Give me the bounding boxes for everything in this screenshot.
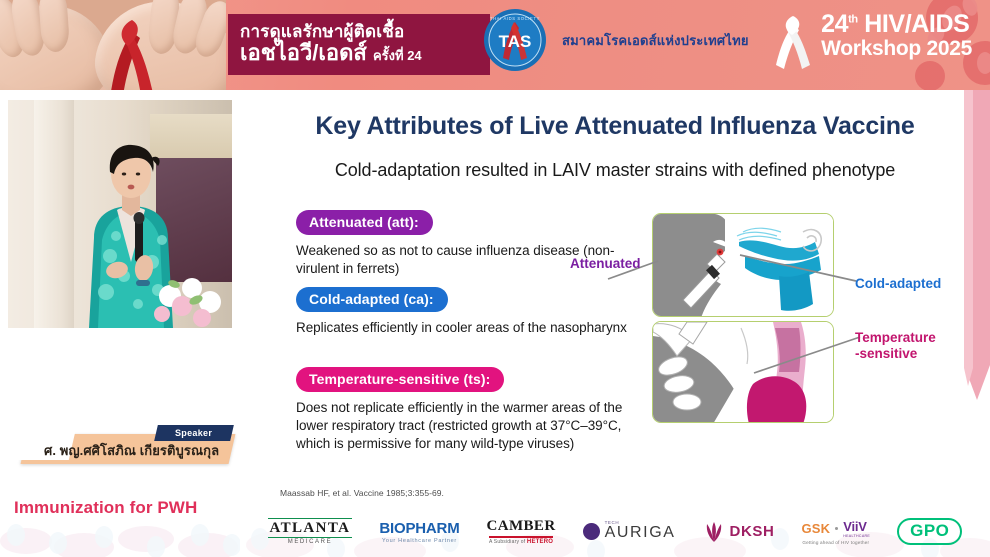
cell-texture-decoration xyxy=(0,507,240,557)
event-thai-title-edition: ครั้งที่ 24 xyxy=(373,48,422,63)
biopharm-wordmark: BIOPHARM xyxy=(379,520,459,537)
camber-rule xyxy=(489,536,553,537)
white-ribbon-icon xyxy=(771,15,815,69)
speaker-badge-label: Speaker xyxy=(175,428,212,438)
slide-title: Key Attributes of Live Attenuated Influe… xyxy=(240,112,990,141)
event-header-band: การดูแลรักษาผู้ติดเชื้อ เอชไอวี/เอดส์ คร… xyxy=(0,0,990,90)
atlanta-subtext: MEDICARE xyxy=(288,539,332,545)
speaker-video-thumbnail[interactable] xyxy=(8,100,232,328)
event-thai-title-line1: การดูแลรักษาผู้ติดเชื้อ xyxy=(240,22,480,41)
diagram-label-temperature-sensitive: Temperature -sensitive xyxy=(855,330,950,361)
slide-screenshot: การดูแลรักษาผู้ติดเชื้อ เอชไอวี/เอดส์ คร… xyxy=(0,0,990,557)
diagram-label-attenuated: Attenuated xyxy=(570,256,641,272)
auriga-wordmark: AURIGA xyxy=(605,525,676,542)
sponsor-logo-atlanta: ATLANTA MEDICARE xyxy=(268,518,353,546)
sponsor-logo-camber: CAMBER A Subsidiary of HETERO xyxy=(487,518,556,544)
speaker-name: ศ. พญ.ศศิโสภิณ เกียรติบูรณกุล xyxy=(44,440,234,461)
camber-parent-brand: HETERO xyxy=(527,539,553,545)
workshop-ordinal-suffix: th xyxy=(848,14,858,26)
workshop-title-line1: HIV/AIDS xyxy=(864,10,969,38)
diagram-label-cold-adapted: Cold-adapted xyxy=(855,276,941,292)
event-thai-title-block: การดูแลรักษาผู้ติดเชื้อ เอชไอวี/เอดส์ คร… xyxy=(228,14,490,75)
speaker-sidebar: Speaker ศ. พญ.ศศิโสภิณ เกียรติบูรณกุล Im… xyxy=(0,90,240,557)
svg-text:THAI AIDS SOCIETY: THAI AIDS SOCIETY xyxy=(490,16,540,21)
diagram-leader-lines xyxy=(462,203,882,433)
atlanta-wordmark: ATLANTA xyxy=(268,518,353,539)
gsk-wordmark: GSK xyxy=(801,521,830,536)
biopharm-subtext: Your Healthcare Partner xyxy=(382,538,457,544)
red-aids-ribbon-icon xyxy=(96,16,168,90)
thai-aids-society-seal-icon: TAS THAI AIDS SOCIETY xyxy=(483,8,547,72)
association-name-thai: สมาคมโรคเอดส์แห่งประเทศไทย xyxy=(562,30,749,51)
attribute-pill-cold-adapted: Cold-adapted (ca): xyxy=(296,287,448,312)
ts-label-line2: -sensitive xyxy=(855,346,917,361)
sponsor-logo-bar: ATLANTA MEDICARE BIOPHARM Your Healthcar… xyxy=(240,506,990,557)
respiratory-tract-diagram xyxy=(652,213,852,423)
attribute-pill-attenuated: Attenuated (att): xyxy=(296,210,433,235)
flower-arrangement xyxy=(150,266,228,328)
presentation-slide: Key Attributes of Live Attenuated Influe… xyxy=(240,90,990,557)
viiv-subtext: HEALTHCARE xyxy=(843,534,870,538)
hands-with-red-ribbon-photo xyxy=(0,0,226,90)
sponsor-logo-auriga: TECH AURIGA xyxy=(583,521,676,542)
event-thai-title-line2: เอชไอวี/เอดส์ xyxy=(240,40,367,65)
speaker-name-tag: Speaker ศ. พญ.ศศิโสภิณ เกียรติบูรณกุล xyxy=(10,430,232,466)
svg-text:TAS: TAS xyxy=(499,32,532,51)
citation-reference: Maassab HF, et al. Vaccine 1985;3:355-69… xyxy=(280,488,444,498)
dksh-wordmark: DKSH xyxy=(730,523,775,540)
camber-subtext: A Subsidiary of xyxy=(489,539,525,545)
dksh-fan-icon xyxy=(703,521,725,543)
sponsor-logo-gpo: GPO xyxy=(897,518,962,545)
sponsor-logo-biopharm: BIOPHARM Your Healthcare Partner xyxy=(379,520,459,544)
camber-wordmark: CAMBER xyxy=(487,518,556,535)
gpo-wordmark: GPO xyxy=(897,518,962,545)
sponsor-logo-gsk-viiv: GSK ViiV HEALTHCARE Getting ahead of HIV… xyxy=(801,519,870,545)
gsk-tagline: Getting ahead of HIV together xyxy=(802,540,869,545)
slide-subtitle: Cold-adaptation resulted in LAIV master … xyxy=(240,160,990,181)
sponsor-logo-dksh: DKSH xyxy=(703,521,775,543)
workshop-title-line2: Workshop 2025 xyxy=(821,38,972,59)
auriga-mark-icon xyxy=(583,523,600,540)
gsk-separator-dot xyxy=(835,527,838,530)
viiv-wordmark: ViiV xyxy=(843,519,870,534)
workshop-ordinal: 24 xyxy=(821,10,848,38)
ts-label-line1: Temperature xyxy=(855,330,936,345)
workshop-logo: 24th HIV/AIDS Workshop 2025 xyxy=(771,12,972,69)
